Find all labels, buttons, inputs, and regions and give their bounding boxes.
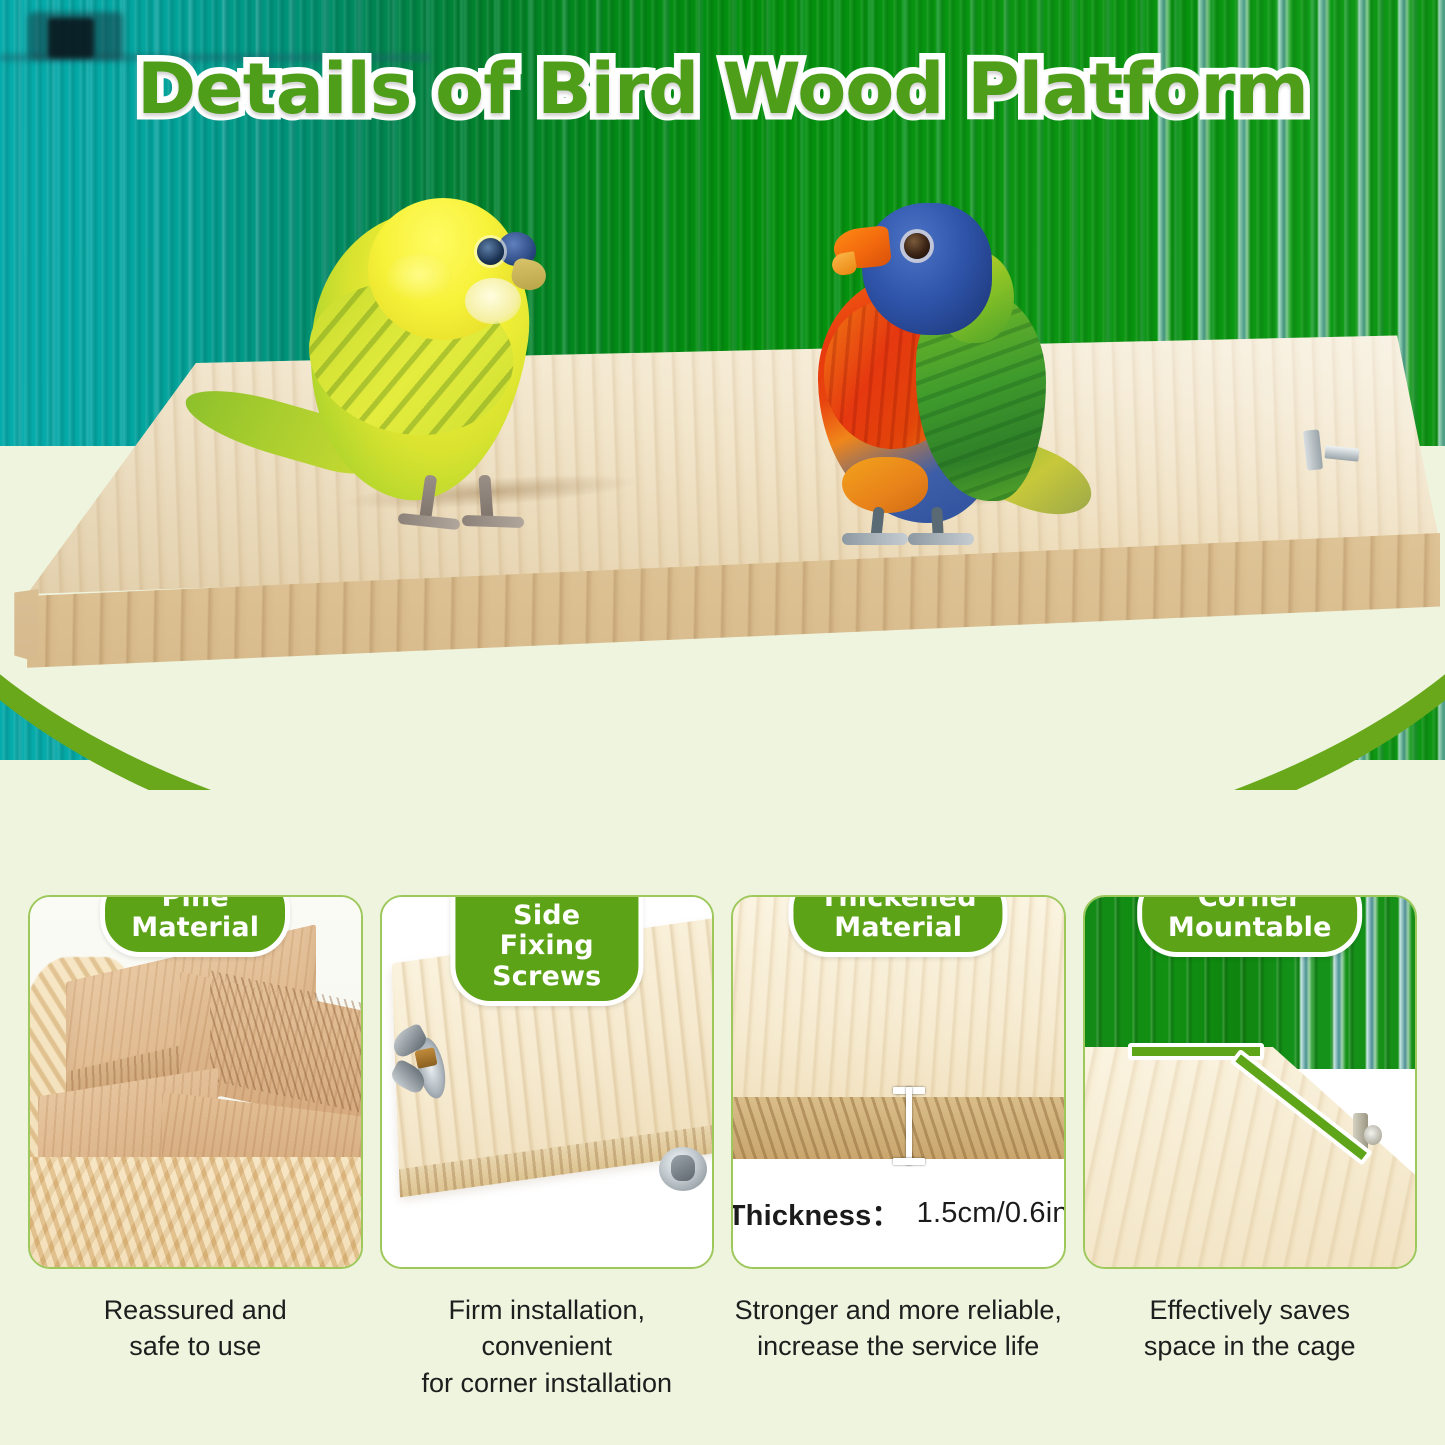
lorikeet-head: [862, 203, 992, 335]
card-title-thickened-material: Thickened Material: [789, 895, 1008, 957]
budgie-foot-right: [462, 515, 524, 528]
budgerigar-bird: [190, 190, 660, 560]
feature-card-pine-material: Pine Material: [28, 895, 363, 1269]
budgie-foot-left: [398, 513, 461, 530]
caption-pine-material: Reassured and safe to use: [28, 1292, 363, 1401]
thickness-value: 1.5cm/0.6in: [917, 1197, 1064, 1230]
feature-card-fixing-screws: Increase Side Fixing Screws: [380, 895, 715, 1269]
feature-card-thickened-material: Thickened Material Thickness： 1.5cm/0.6i…: [731, 895, 1066, 1269]
card-title-pine-material: Pine Material: [100, 895, 290, 957]
caption-thickened-material: Stronger and more reliable, increase the…: [731, 1292, 1066, 1401]
thickness-label-strip: Thickness： 1.5cm/0.6in: [733, 1159, 1064, 1267]
budgie-throat: [465, 278, 521, 324]
second-screw-head-icon: [671, 1155, 695, 1181]
caliper-bottom-cap: [893, 1158, 925, 1165]
thickness-label: Thickness：: [733, 1192, 901, 1234]
caliper-bar: [906, 1087, 912, 1165]
budgie-eye: [477, 238, 504, 265]
lorikeet-foot-left: [842, 533, 908, 545]
wood-shavings-bottom: [30, 1157, 361, 1267]
feature-card-corner-mountable: Corner Mountable: [1083, 895, 1418, 1269]
lorikeet-eye: [904, 233, 930, 259]
lorikeet-vent: [842, 457, 928, 513]
thickness-caliper-icon: [893, 1087, 925, 1165]
budgie-cheek: [386, 254, 452, 300]
hero-section: Details of Bird Wood Platform: [0, 0, 1445, 790]
card-title-corner-mountable: Corner Mountable: [1137, 895, 1363, 957]
card-title-fixing-screws: Increase Side Fixing Screws: [450, 895, 643, 1006]
page-title: Details of Bird Wood Platform: [0, 48, 1445, 130]
caption-fixing-screws: Firm installation, convenient for corner…: [380, 1292, 715, 1401]
corner-mount-screw-icon: [1364, 1125, 1382, 1145]
caption-corner-mountable: Effectively saves space in the cage: [1083, 1292, 1418, 1401]
feature-caption-row: Reassured and safe to use Firm installat…: [0, 1292, 1445, 1401]
rainbow-lorikeet-bird: [780, 195, 1090, 555]
feature-card-row: Pine Material Increase Side Fixing Screw…: [0, 895, 1445, 1315]
lorikeet-foot-right: [908, 533, 974, 545]
